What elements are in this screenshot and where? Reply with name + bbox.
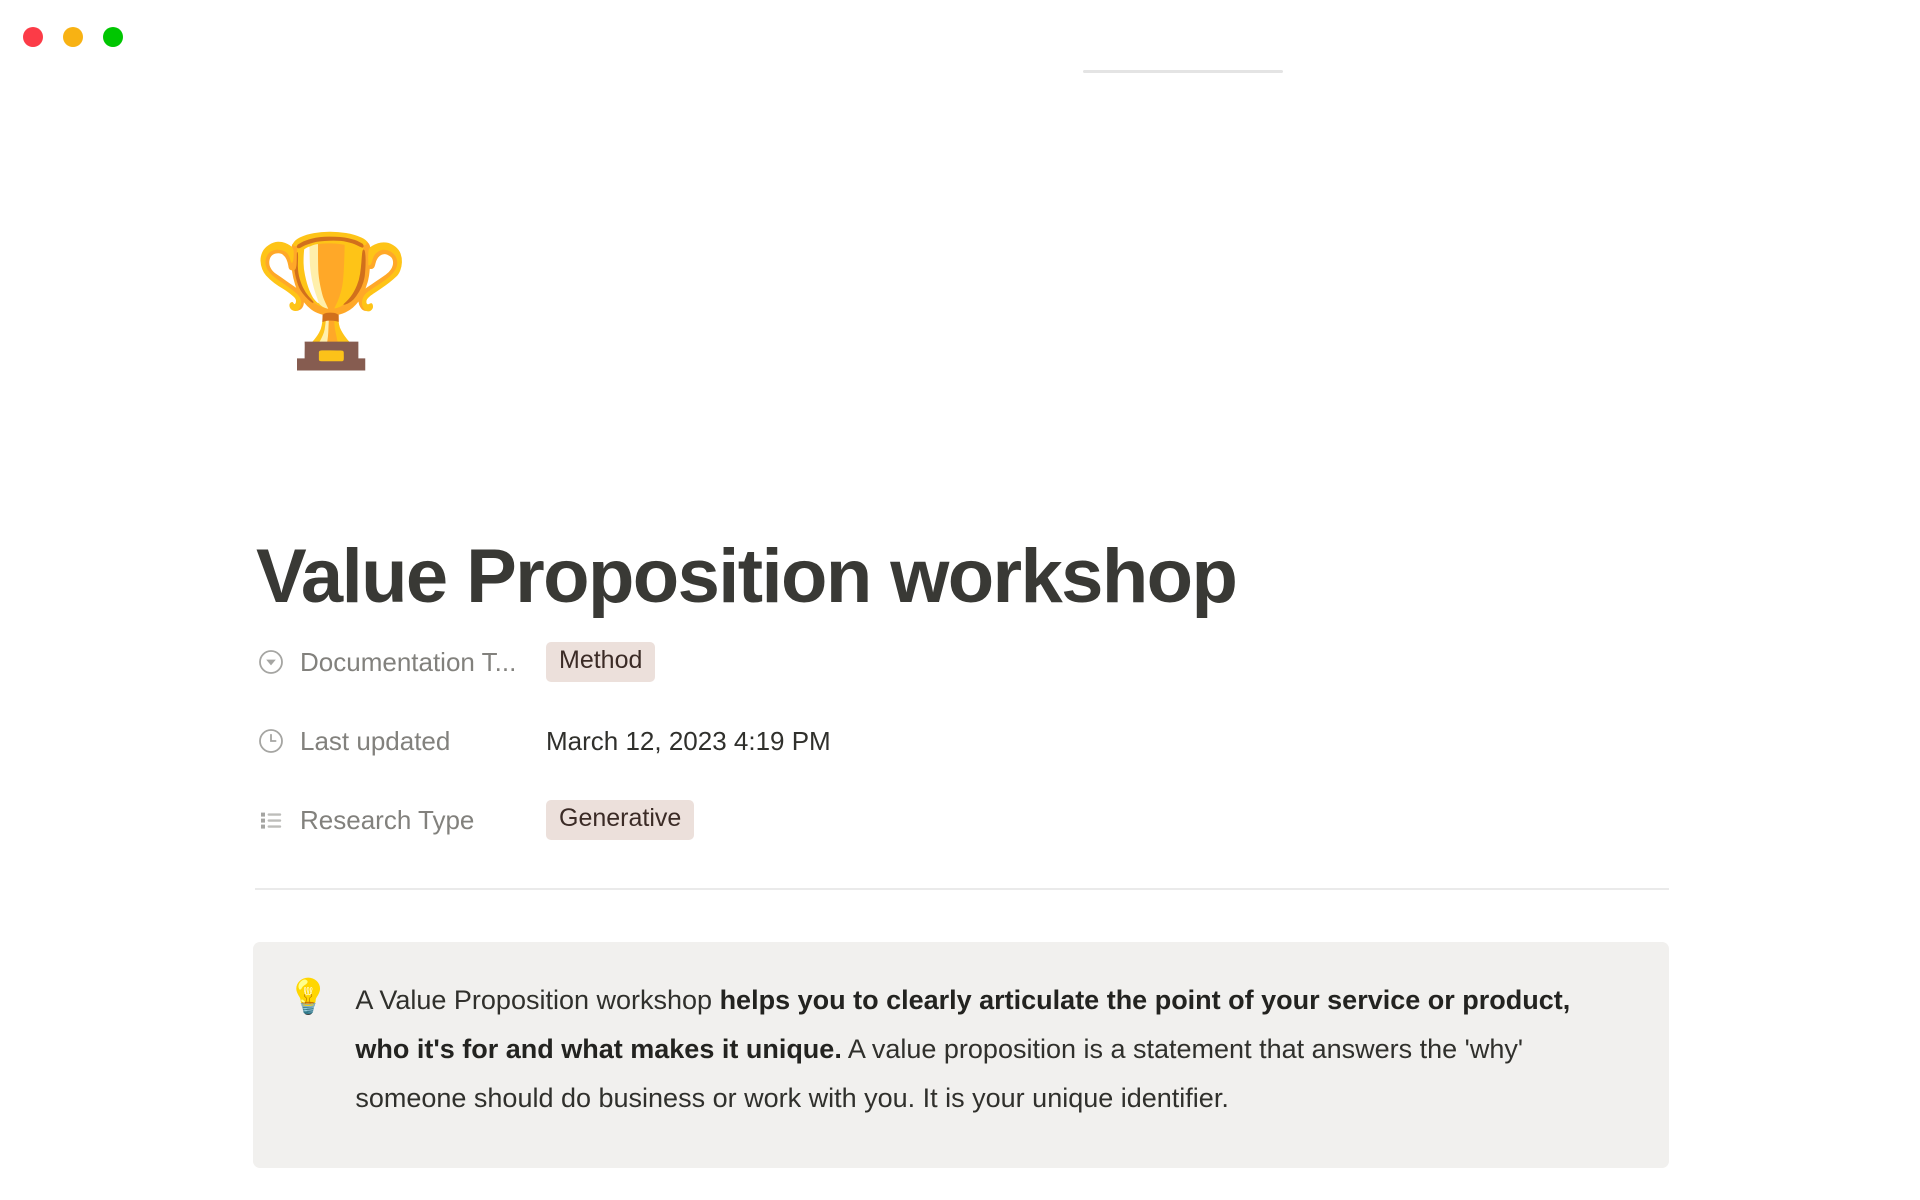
- status-badge-generative[interactable]: Generative: [546, 800, 694, 840]
- property-value-research-type[interactable]: Generative: [546, 800, 694, 840]
- list-icon: [258, 807, 284, 833]
- property-name-research-type: Research Type: [300, 805, 474, 836]
- status-badge-method[interactable]: Method: [546, 642, 655, 682]
- trophy-emoji[interactable]: 🏆: [252, 238, 411, 366]
- document-page: 🏆 Value Proposition workshop Documentati…: [0, 0, 1920, 1200]
- property-row-last-updated[interactable]: Last updated March 12, 2023 4:19 PM: [258, 717, 1678, 765]
- callout-text: A Value Proposition workshop helps you t…: [355, 976, 1629, 1123]
- callout-text-lead: A Value Proposition workshop: [355, 985, 719, 1015]
- property-label-research-type: Research Type: [258, 805, 546, 836]
- property-row-research-type[interactable]: Research Type Generative: [258, 796, 1678, 844]
- callout-block[interactable]: 💡 A Value Proposition workshop helps you…: [253, 942, 1669, 1168]
- property-label-last-updated: Last updated: [258, 726, 546, 757]
- content-divider: [255, 888, 1669, 890]
- property-row-documentation-type[interactable]: Documentation T... Method: [258, 638, 1678, 686]
- property-value-documentation-type[interactable]: Method: [546, 642, 655, 682]
- clock-icon: [258, 728, 284, 754]
- property-value-last-updated[interactable]: March 12, 2023 4:19 PM: [546, 726, 831, 757]
- page-title[interactable]: Value Proposition workshop: [256, 536, 1236, 618]
- page-properties: Documentation T... Method Last updated: [258, 638, 1678, 875]
- property-name-last-updated: Last updated: [300, 726, 450, 757]
- property-name-documentation-type: Documentation T...: [300, 647, 516, 678]
- property-label-documentation-type: Documentation T...: [258, 647, 546, 678]
- select-icon: [258, 649, 284, 675]
- app-window: 🏆 Value Proposition workshop Documentati…: [0, 0, 1920, 1200]
- lightbulb-emoji: 💡: [287, 980, 329, 1014]
